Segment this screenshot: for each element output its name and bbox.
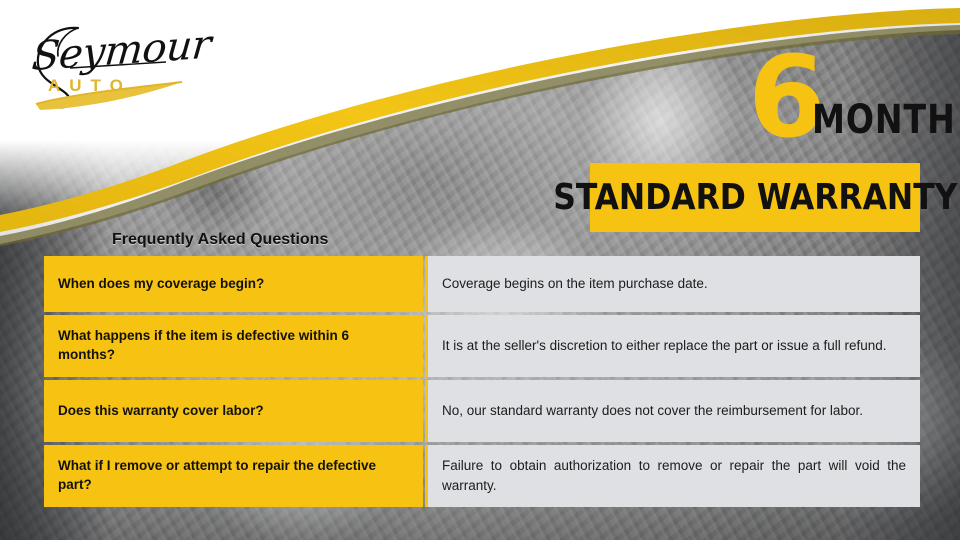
brand-logo[interactable]: Seymour AUTO xyxy=(14,18,194,114)
faq-question-cell: What if I remove or attempt to repair th… xyxy=(44,445,423,507)
table-row: What happens if the item is defective wi… xyxy=(44,315,920,377)
brand-sub-auto: AUTO xyxy=(48,76,132,96)
faq-question-cell: When does my coverage begin? xyxy=(44,256,423,312)
table-row: What if I remove or attempt to repair th… xyxy=(44,445,920,507)
warranty-slide: Seymour AUTO 6 MONTH STANDARD WARRANTY F… xyxy=(0,0,960,540)
table-row: When does my coverage begin? Coverage be… xyxy=(44,256,920,312)
faq-question-text: What happens if the item is defective wi… xyxy=(58,327,409,364)
standard-warranty-banner: STANDARD WARRANTY xyxy=(590,163,920,232)
standard-warranty-banner-text: STANDARD WARRANTY xyxy=(553,177,957,218)
faq-question-text: Does this warranty cover labor? xyxy=(58,402,264,421)
faq-answer-text: Coverage begins on the item purchase dat… xyxy=(442,274,906,294)
faq-answer-cell: Coverage begins on the item purchase dat… xyxy=(425,256,920,312)
faq-question-text: What if I remove or attempt to repair th… xyxy=(58,457,409,494)
faq-answer-cell: Failure to obtain authorization to remov… xyxy=(425,445,920,507)
faq-answer-text: Failure to obtain authorization to remov… xyxy=(442,456,906,495)
faq-question-cell: What happens if the item is defective wi… xyxy=(44,315,423,377)
faq-question-text: When does my coverage begin? xyxy=(58,275,264,294)
faq-answer-text: It is at the seller's discretion to eith… xyxy=(442,336,906,356)
faq-heading: Frequently Asked Questions xyxy=(112,231,328,249)
faq-question-cell: Does this warranty cover labor? xyxy=(44,380,423,442)
warranty-duration-unit: MONTH xyxy=(812,100,956,140)
faq-answer-cell: It is at the seller's discretion to eith… xyxy=(425,315,920,377)
faq-table: When does my coverage begin? Coverage be… xyxy=(44,256,920,507)
faq-answer-cell: No, our standard warranty does not cover… xyxy=(425,380,920,442)
faq-answer-text: No, our standard warranty does not cover… xyxy=(442,401,906,421)
table-row: Does this warranty cover labor? No, our … xyxy=(44,380,920,442)
